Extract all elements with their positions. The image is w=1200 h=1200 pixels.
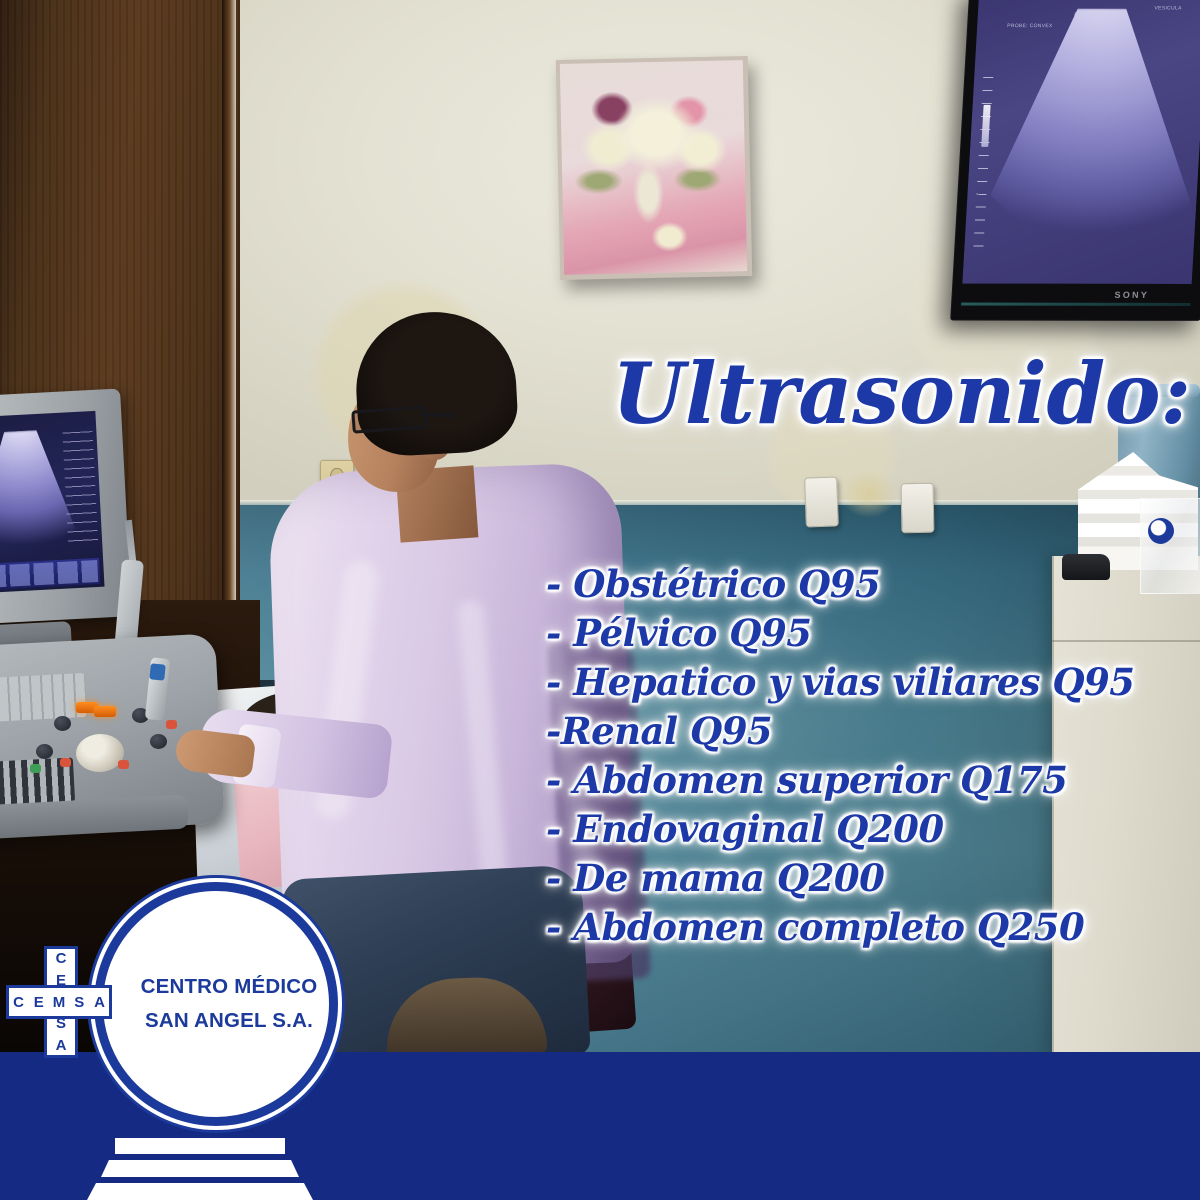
step-bar-3 [87,1183,313,1200]
console-button-green [30,764,41,773]
cross-horizontal-letters: C E M S A [6,985,112,1019]
page-title: Ultrasonido: [612,352,1191,436]
ultrasound-screen: PROBE: CONVEX ADM B30k EdGE 3k VESICULA [962,0,1200,284]
console-knob-4 [36,744,53,759]
floral-painting-frame [556,56,753,280]
price-item-de-mama: - De mama Q200 [546,860,1200,897]
clinic-name-line-1: CENTRO MÉDICO [129,970,329,1004]
console-keyboard [0,673,87,723]
console-button-red-2 [118,760,129,769]
ultrasound-price-poster: PROBE: CONVEX ADM B30k EdGE 3k VESICULA … [0,0,1200,1200]
cross-v-letter-0: C [54,951,69,966]
cross-h-letter-3: S [72,995,87,1010]
door-edge [222,0,236,640]
monitor-brand-label: SONY [1114,290,1149,300]
ultrasound-overlay-left: PROBE: CONVEX [1007,23,1053,29]
ultrasound-machine-screen [0,411,105,593]
logo-steps-emblem [60,1138,340,1200]
ultrasound-overlay-center: ADM B30k EdGE 3k [1074,11,1125,17]
monitor-chin-strip [961,303,1191,306]
price-item-endovaginal: - Endovaginal Q200 [546,811,1200,848]
cross-h-letter-0: C [11,995,26,1010]
price-list: - Obstétrico Q95 - Pélvico Q95 - Hepatic… [546,566,1200,958]
step-bar-2 [101,1160,299,1177]
console-indicator-2 [94,706,116,717]
medical-cross-emblem: C E M S A C E M S A [6,946,112,1058]
console-knob-3 [150,734,167,749]
ultrasound-probe-tip [149,663,166,680]
price-item-obstetrico: - Obstétrico Q95 [546,566,1200,603]
price-item-pelvico: - Pélvico Q95 [546,615,1200,652]
console-button-red-3 [166,720,177,729]
ultrasound-overlay-right: VESICULA [1154,5,1182,11]
wall-stain [840,470,898,518]
console-button-red-1 [60,758,71,767]
ultrasound-fan-image [987,9,1200,261]
ultrasound-depth-ticks [973,77,993,252]
price-item-renal: -Renal Q95 [546,713,1200,750]
cross-h-letter-4: A [92,995,107,1010]
wall-monitor: PROBE: CONVEX ADM B30k EdGE 3k VESICULA … [950,0,1200,321]
price-item-abdomen-superior: - Abdomen superior Q175 [546,762,1200,799]
cross-h-letter-1: E [31,995,46,1010]
machine-hud-ticks [62,431,98,542]
console-knob-1 [54,716,71,731]
clinic-name-line-2: SAN ANGEL S.A. [129,1004,329,1038]
price-item-abdomen-completo: - Abdomen completo Q250 [546,909,1200,946]
monitor-bezel: PROBE: CONVEX ADM B30k EdGE 3k VESICULA [962,0,1200,284]
bag-logo [1148,518,1174,544]
step-bar-1 [115,1138,285,1154]
light-switch-left [804,476,839,527]
cross-v-letter-4: A [54,1038,69,1053]
machine-menu-bar [0,558,100,590]
clinic-logo-badge: CENTRO MÉDICO SAN ANGEL S.A. [94,882,338,1126]
light-switch-right [901,483,935,534]
cross-h-letter-2: M [52,995,67,1010]
price-item-hepatico-vias-biliares: - Hepatico y vias viliares Q95 [546,664,1200,701]
floral-painting-canvas [560,60,747,275]
clinic-logo-text: CENTRO MÉDICO SAN ANGEL S.A. [103,970,329,1038]
